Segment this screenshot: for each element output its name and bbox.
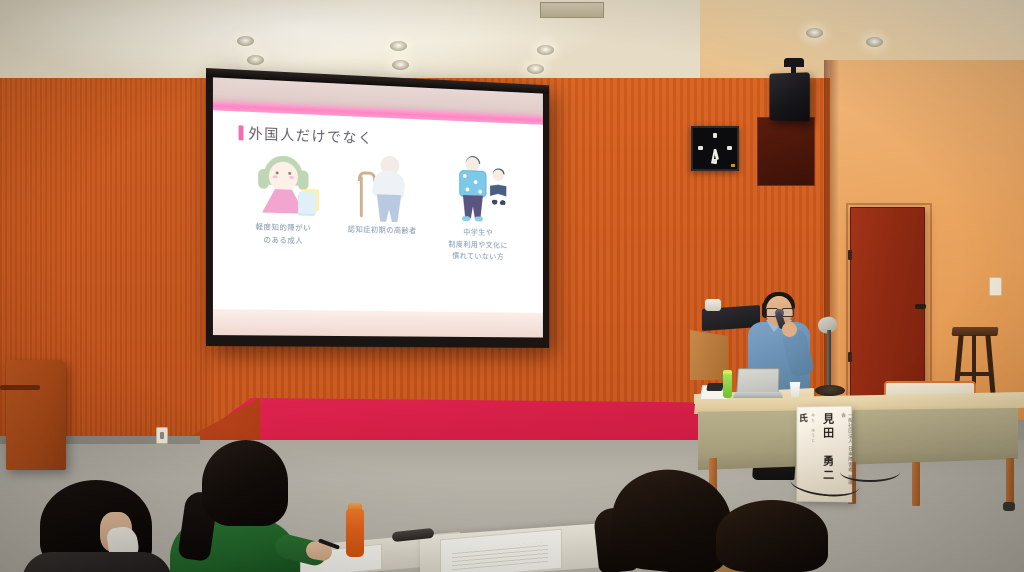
audience-person-far-right-hair (716, 500, 828, 572)
ceiling-downlight-3 (537, 45, 554, 55)
green-drink-bottle (723, 374, 732, 398)
pa-speaker (769, 72, 809, 121)
slide-canvas: 外国人だけでなく 軽度知的障がい のある成人 (213, 77, 543, 337)
slide-figure-group: 軽度知的障がい のある成人 認知症初期の高齢者 (233, 148, 525, 282)
wall-outlet[interactable] (156, 427, 168, 444)
table-leg-4 (1006, 458, 1014, 504)
door-hinge-top (848, 250, 852, 260)
slide-figure-2-caption: 認知症初期の高齢者 (348, 224, 417, 238)
door-handle[interactable] (915, 304, 926, 309)
ceiling-downlight-7 (806, 28, 823, 38)
clock-tick-9 (698, 146, 703, 150)
clock-tick-12 (713, 133, 717, 138)
laptop-base[interactable] (733, 392, 783, 398)
stool-rail (957, 372, 993, 376)
floor-cable-2 (840, 462, 900, 482)
ceiling-downlight-6 (527, 64, 544, 74)
slide-figure-1: 軽度知的障がい のある成人 (233, 148, 334, 279)
microphone-stand-base (815, 385, 845, 396)
laptop-screen[interactable] (736, 368, 779, 396)
table-caster-2 (1003, 502, 1015, 511)
ceiling-downlight-1 (237, 36, 254, 46)
table-leg-3 (912, 462, 920, 506)
ceiling-downlight-4 (247, 55, 264, 65)
young-woman-illustration-icon (241, 148, 326, 218)
clock-tick-3 (727, 146, 732, 150)
podium-shelf-line (0, 385, 40, 390)
ceiling-downlight-2 (390, 41, 407, 51)
podium (6, 360, 66, 470)
ceiling-vent-1 (540, 2, 604, 18)
slide-footer-band (213, 309, 543, 337)
orange-drink-bottle (346, 509, 364, 557)
desk-device (706, 383, 723, 391)
light-switch-plate[interactable] (989, 277, 1002, 296)
presenter-hand (782, 322, 797, 337)
slide-figure-3: 中学生や 制度利用や文化に 慣れていない方 (431, 156, 525, 283)
projection-screen: 外国人だけでなく 軽度知的障がい のある成人 (206, 68, 549, 348)
student-and-child-illustration-icon (438, 156, 518, 224)
wall-dark-panel (757, 117, 815, 186)
orange-bottle-cap (348, 503, 362, 511)
slide-title-marker-icon (239, 125, 244, 140)
audience-person-green-hair (202, 440, 288, 526)
console-device (705, 299, 721, 311)
lecture-hall-photo: 外国人だけでなく 軽度知的障がい のある成人 (0, 0, 1024, 572)
ceiling-downlight-5 (392, 60, 409, 70)
slide-figure-2: 認知症初期の高齢者 (333, 152, 430, 281)
slide-figure-1-caption: 軽度知的障がい のある成人 (256, 221, 312, 247)
microphone-stand-pole (827, 330, 831, 388)
door-hinge-bottom (848, 352, 852, 362)
elderly-person-cane-illustration-icon (341, 152, 423, 221)
clock-brand-mark (731, 164, 735, 167)
slide-figure-3-caption: 中学生や 制度利用や文化に 慣れていない方 (448, 226, 507, 263)
ceiling-downlight-8 (866, 37, 883, 47)
audience-person-left-body (22, 552, 172, 572)
wall-clock (691, 126, 739, 171)
clock-face (695, 130, 735, 167)
